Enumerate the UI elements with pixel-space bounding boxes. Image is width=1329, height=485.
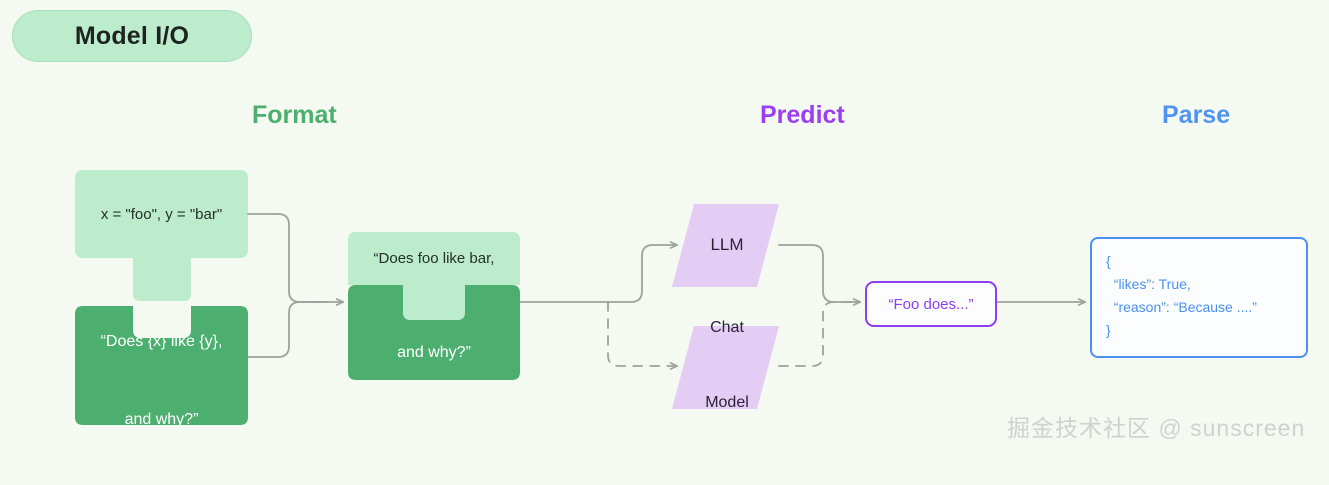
- llm-parallelogram-shape: [672, 204, 779, 287]
- model-response-box: “Foo does...”: [865, 281, 997, 327]
- parsed-json-line-3: “reason”: “Because ....”: [1106, 296, 1292, 319]
- parsed-json-line-2: “likes”: True,: [1106, 273, 1292, 296]
- parsed-json-box: { “likes”: True, “reason”: “Because ....…: [1090, 237, 1308, 358]
- model-response-text: “Foo does...”: [888, 296, 973, 313]
- chat-model-parallelogram-shape: [672, 326, 779, 409]
- shapes-layer: [0, 0, 1329, 453]
- watermark-text: 掘金技术社区 @ sunscreen: [1007, 409, 1305, 443]
- variables-puzzle-shape: [75, 170, 248, 301]
- template-puzzle-shape: [75, 306, 248, 425]
- parsed-json-line-1: {: [1106, 250, 1292, 273]
- parsed-json-line-4: }: [1106, 319, 1292, 342]
- diagram-canvas: Model I/O Format Predict Parse: [0, 0, 1329, 453]
